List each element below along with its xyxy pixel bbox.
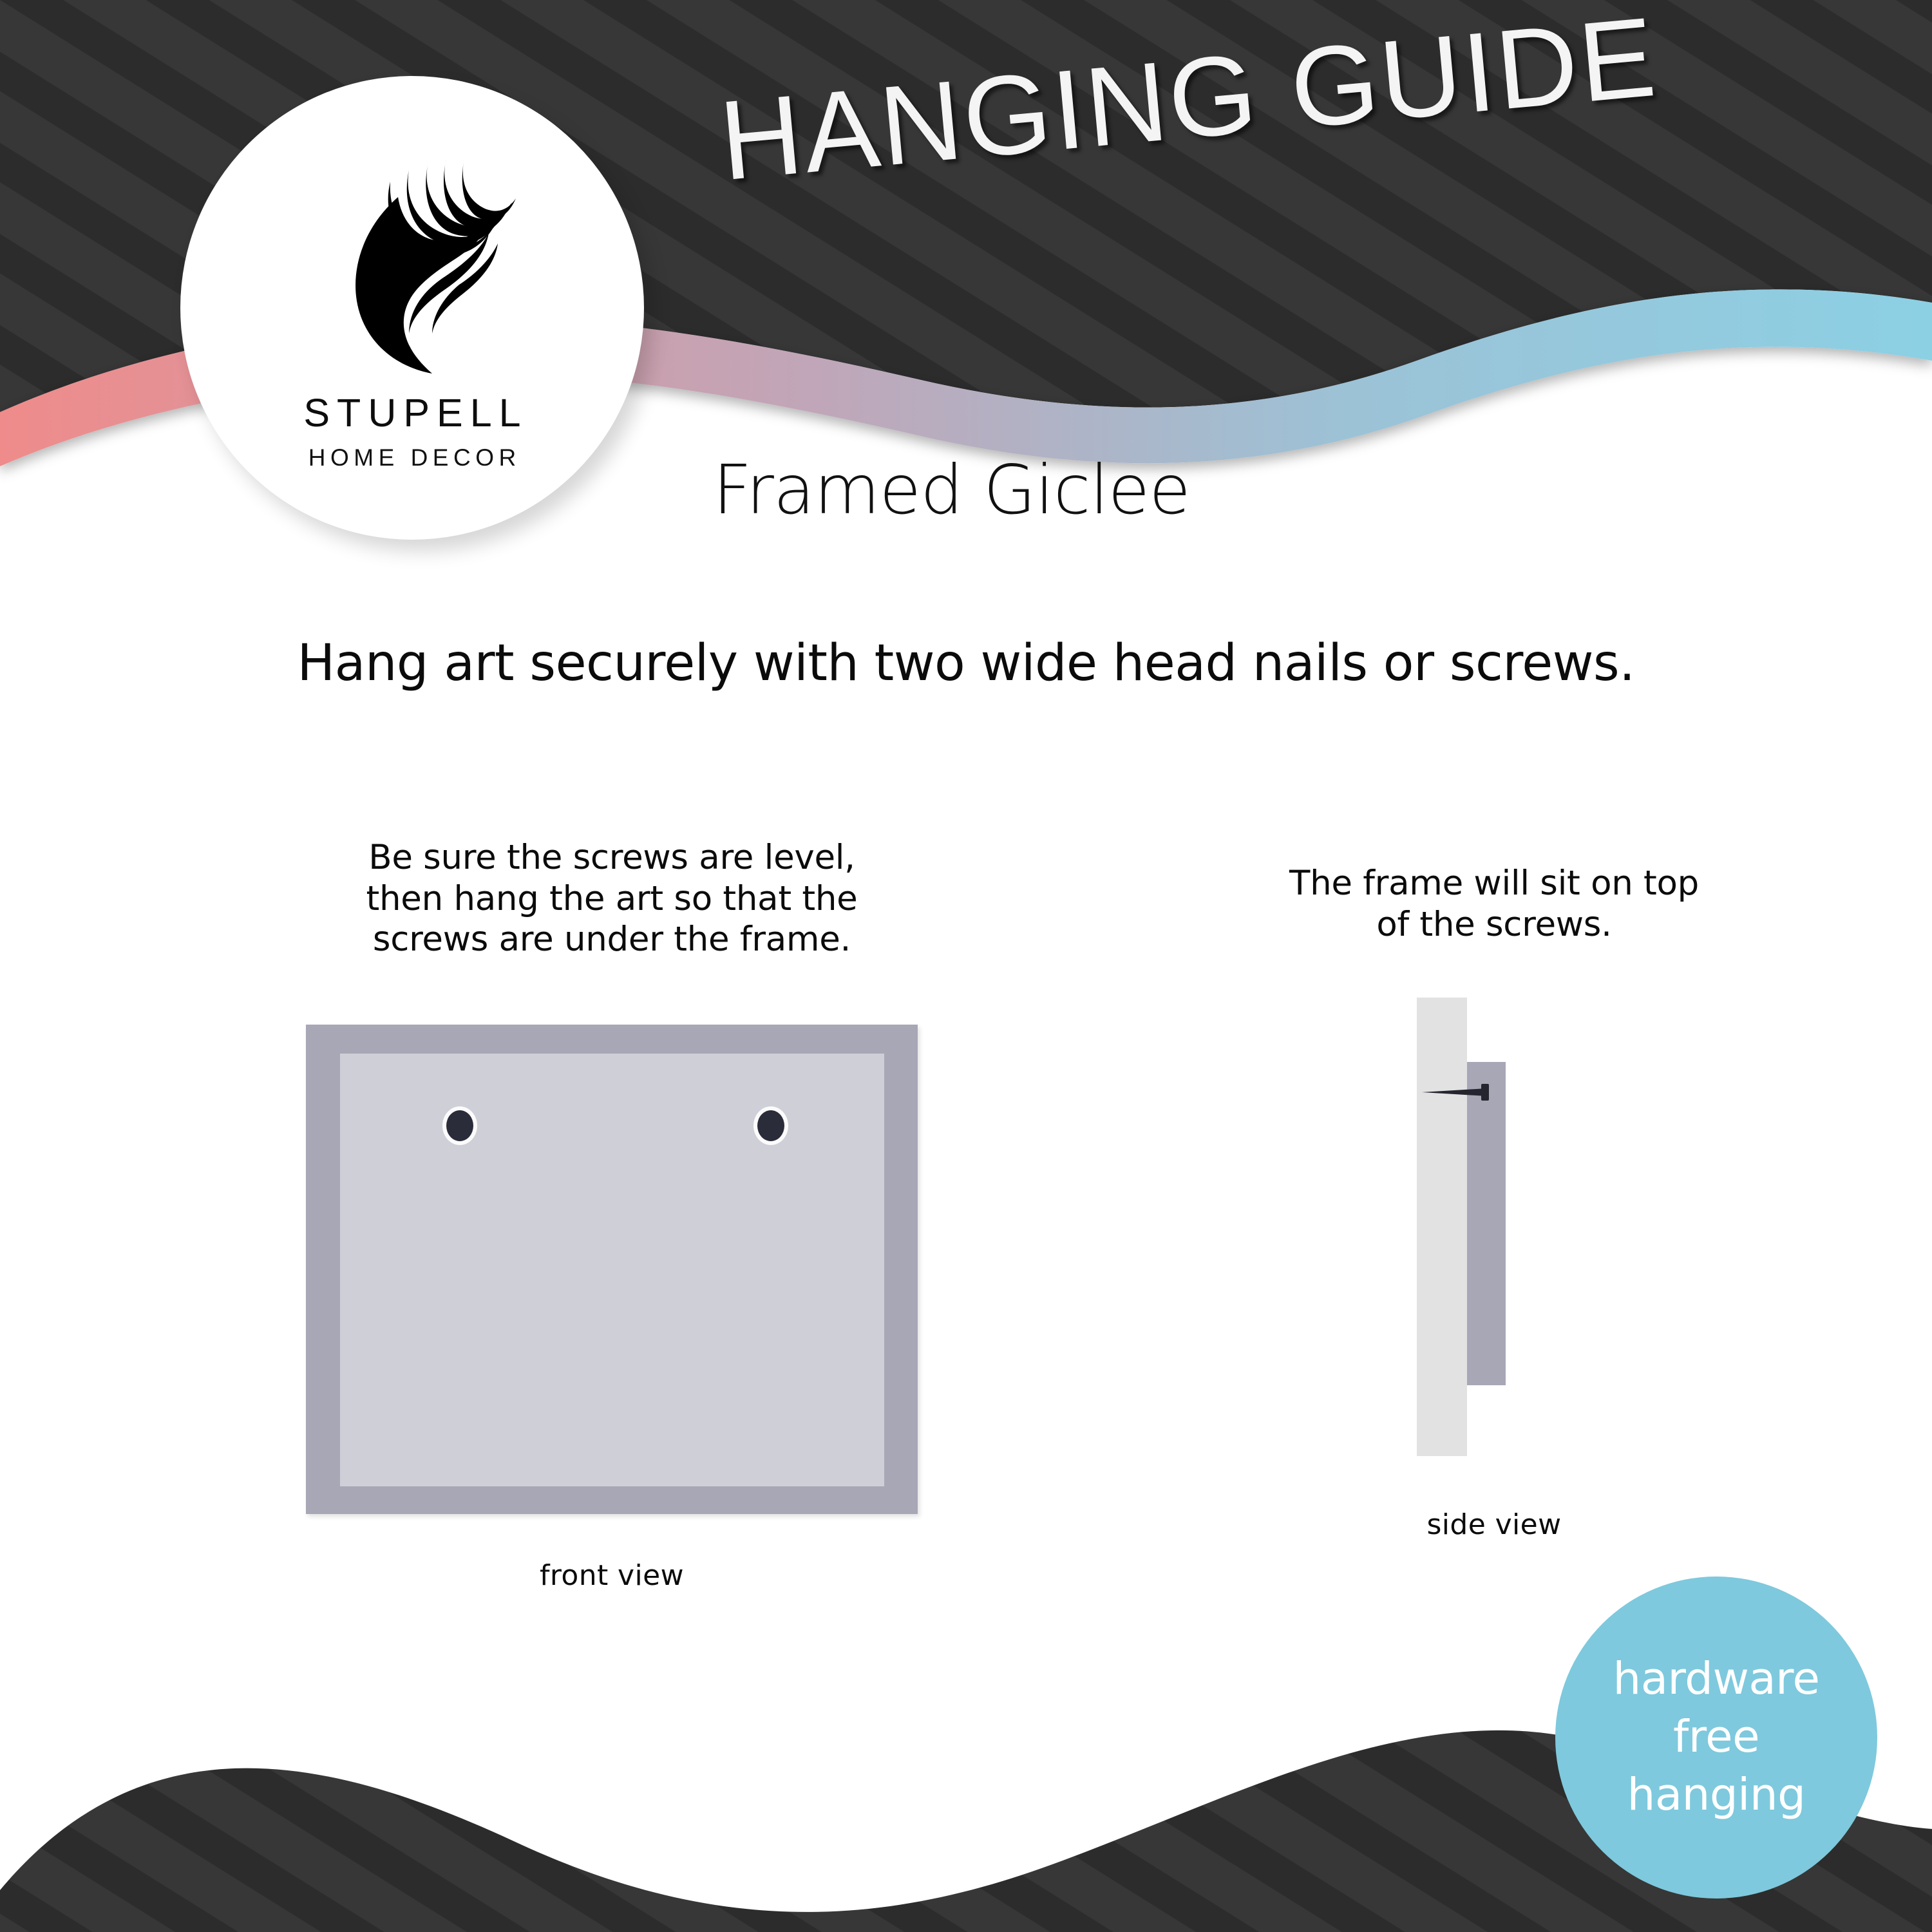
brand-name: STUPELL [296, 390, 527, 435]
frame-side-profile [1467, 1062, 1506, 1385]
frame-side-diagram [1188, 998, 1800, 1458]
side-view-caption: The frame will sit on top of the screws. [1069, 863, 1919, 945]
brand-tagline: HOME DECOR [303, 444, 520, 471]
main-instruction-text: Hang art securely with two wide head nai… [0, 634, 1932, 692]
badge-line-1: hardware [1613, 1651, 1820, 1709]
brand-logo-badge: STUPELL HOME DECOR [180, 76, 644, 540]
badge-line-3: hanging [1627, 1766, 1806, 1824]
front-view-label: front view [187, 1559, 1037, 1592]
product-type-label: Framed Giclee [713, 451, 1190, 529]
nail-icon [1422, 1084, 1507, 1101]
frame-front-diagram [306, 1025, 918, 1514]
hanging-guide-page: STUPELL HOME DECOR HANGING GUIDE Framed … [0, 0, 1932, 1932]
front-view-panel: Be sure the screws are level, then hang … [187, 837, 1037, 1592]
stupell-swoosh-logo-icon [306, 126, 518, 384]
hardware-free-hanging-badge: hardware free hanging [1555, 1577, 1877, 1899]
screw-dot-right [757, 1110, 784, 1141]
front-view-caption: Be sure the screws are level, then hang … [187, 837, 1037, 960]
wall-cross-section [1417, 998, 1467, 1456]
side-view-label: side view [1069, 1508, 1919, 1541]
side-view-panel: The frame will sit on top of the screws.… [1069, 863, 1919, 1541]
screw-dot-left [446, 1110, 473, 1141]
badge-line-2: free [1673, 1709, 1759, 1766]
frame-front-artwork-area [340, 1054, 884, 1486]
